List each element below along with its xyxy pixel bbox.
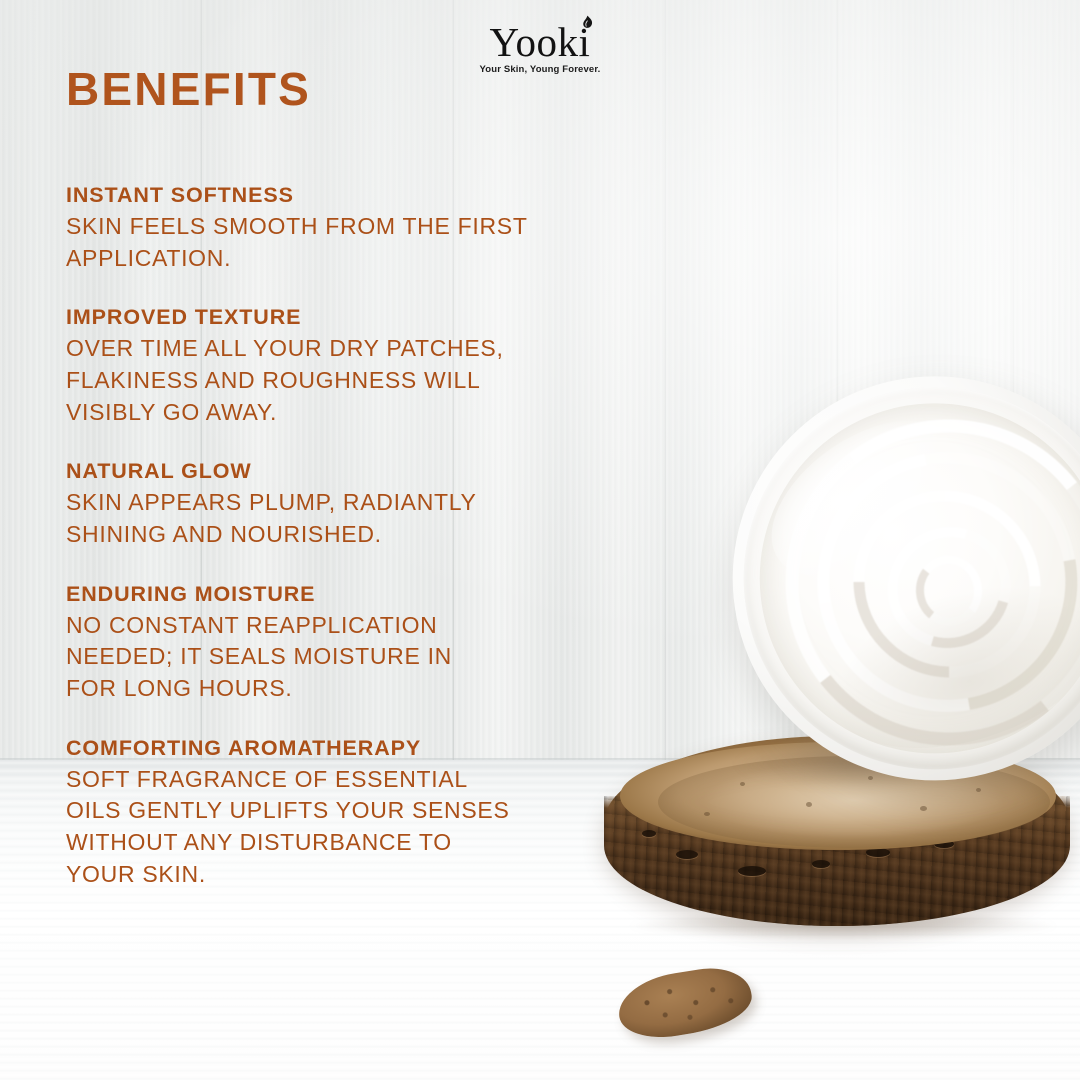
benefit-item: IMPROVED TEXTURE OVER TIME ALL YOUR DRY … xyxy=(66,304,666,428)
benefits-list: INSTANT SOFTNESS SKIN FEELS SMOOTH FROM … xyxy=(66,182,666,891)
bark-pit xyxy=(812,860,830,868)
benefit-description: SKIN APPEARS PLUMP, RADIANTLY SHINING AN… xyxy=(66,487,666,550)
benefit-item: INSTANT SOFTNESS SKIN FEELS SMOOTH FROM … xyxy=(66,182,666,274)
benefit-description: OVER TIME ALL YOUR DRY PATCHES, FLAKINES… xyxy=(66,333,666,428)
bark-pit xyxy=(676,850,698,859)
benefit-title: IMPROVED TEXTURE xyxy=(66,304,666,331)
benefit-description: SOFT FRAGRANCE OF ESSENTIAL OILS GENTLY … xyxy=(66,764,666,891)
benefit-description: SKIN FEELS SMOOTH FROM THE FIRST APPLICA… xyxy=(66,211,666,274)
logo-wordmark: Yooki xyxy=(490,22,591,63)
log-speck xyxy=(740,782,745,786)
benefit-title: COMFORTING AROMATHERAPY xyxy=(66,735,666,762)
log-speck xyxy=(704,812,710,816)
logo-mark: Yooki xyxy=(490,22,591,63)
benefit-title: NATURAL GLOW xyxy=(66,458,666,485)
benefit-item: NATURAL GLOW SKIN APPEARS PLUMP, RADIANT… xyxy=(66,458,666,550)
promo-canvas: Yooki Your Skin, Young Forever. BENEFITS… xyxy=(0,0,1080,1080)
benefit-item: COMFORTING AROMATHERAPY SOFT FRAGRANCE O… xyxy=(66,735,666,891)
benefit-item: ENDURING MOISTURE NO CONSTANT REAPPLICAT… xyxy=(66,581,666,705)
benefit-title: ENDURING MOISTURE xyxy=(66,581,666,608)
bark-pit xyxy=(738,866,766,876)
brand-logo: Yooki Your Skin, Young Forever. xyxy=(410,22,670,75)
page-title: BENEFITS xyxy=(66,66,311,112)
leaf-drop-icon xyxy=(580,15,593,30)
benefit-description: NO CONSTANT REAPPLICATION NEEDED; IT SEA… xyxy=(66,610,666,705)
logo-tagline: Your Skin, Young Forever. xyxy=(410,64,670,75)
benefit-title: INSTANT SOFTNESS xyxy=(66,182,666,209)
